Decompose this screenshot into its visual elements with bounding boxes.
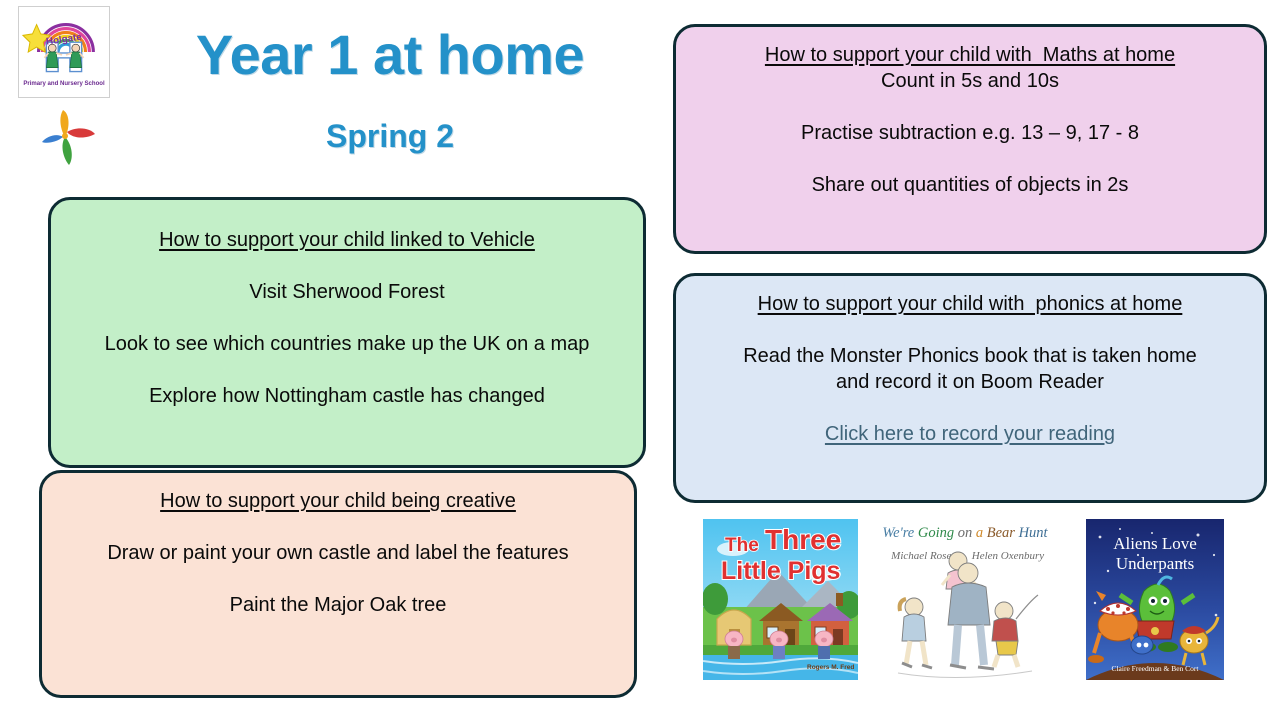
panel-phonics-heading: How to support your child with phonics a… bbox=[758, 292, 1183, 317]
book-title: We're Going on a Bear Hunt bbox=[882, 525, 1048, 541]
book-cover-aliens-love-underpants: Aliens Love Underpants bbox=[1086, 519, 1224, 680]
panel-maths: How to support your child with Maths at … bbox=[673, 24, 1267, 254]
book-author-2: Helen Oxenbury bbox=[971, 550, 1045, 562]
book-title-line-1: The bbox=[725, 535, 759, 556]
school-logo: Holgate Primary and Nursery School bbox=[18, 6, 110, 98]
panel-phonics-line-1: Read the Monster Phonics book that is ta… bbox=[743, 343, 1197, 369]
panel-creative-line-1: Draw or paint your own castle and label … bbox=[107, 540, 568, 566]
book-covers: The Three Little Pigs Rogers M. Fred We'… bbox=[700, 519, 1260, 684]
petal-logo bbox=[36, 106, 100, 168]
panel-maths-heading: How to support your child with Maths at … bbox=[765, 43, 1175, 68]
panel-maths-line-3: Share out quantities of objects in 2s bbox=[812, 172, 1129, 198]
poster-page: Holgate Primary and Nursery School Year … bbox=[0, 0, 1280, 720]
book-cover-were-going-on-a-bear-hunt: We're Going on a Bear Hunt Michael Rosen… bbox=[880, 511, 1050, 689]
school-logo-strapline: Primary and Nursery School bbox=[23, 81, 105, 87]
panel-creative-heading: How to support your child being creative bbox=[160, 489, 516, 514]
book-title-line-2: Three bbox=[765, 524, 841, 555]
panel-phonics: How to support your child with phonics a… bbox=[673, 273, 1267, 503]
page-subtitle: Spring 2 bbox=[130, 118, 650, 155]
book-author: Claire Freedman & Ben Cort bbox=[1111, 664, 1199, 673]
panel-creative: How to support your child being creative… bbox=[39, 470, 637, 698]
panel-phonics-line-2: and record it on Boom Reader bbox=[836, 369, 1104, 395]
book-title-line-3: Little Pigs bbox=[721, 557, 840, 585]
book-cover-the-three-little-pigs: The Three Little Pigs Rogers M. Fred bbox=[703, 519, 858, 680]
book-title-line-2: Underpants bbox=[1116, 554, 1194, 573]
panel-maths-line-1: Count in 5s and 10s bbox=[881, 68, 1059, 94]
book-author: Rogers M. Fred bbox=[807, 664, 854, 671]
panel-vehicle: How to support your child linked to Vehi… bbox=[48, 197, 646, 468]
book-title-line-1: Aliens Love bbox=[1113, 534, 1197, 553]
panel-vehicle-line-1: Visit Sherwood Forest bbox=[249, 279, 444, 305]
panel-creative-line-2: Paint the Major Oak tree bbox=[230, 592, 447, 618]
panel-vehicle-line-3: Explore how Nottingham castle has change… bbox=[149, 383, 545, 409]
record-reading-link[interactable]: Click here to record your reading bbox=[825, 421, 1115, 447]
book-author-1: Michael Rosen bbox=[890, 550, 957, 562]
panel-maths-line-2: Practise subtraction e.g. 13 – 9, 17 - 8 bbox=[801, 120, 1139, 146]
page-title: Year 1 at home bbox=[130, 22, 650, 87]
panel-vehicle-line-2: Look to see which countries make up the … bbox=[105, 331, 590, 357]
panel-vehicle-heading: How to support your child linked to Vehi… bbox=[159, 228, 535, 253]
